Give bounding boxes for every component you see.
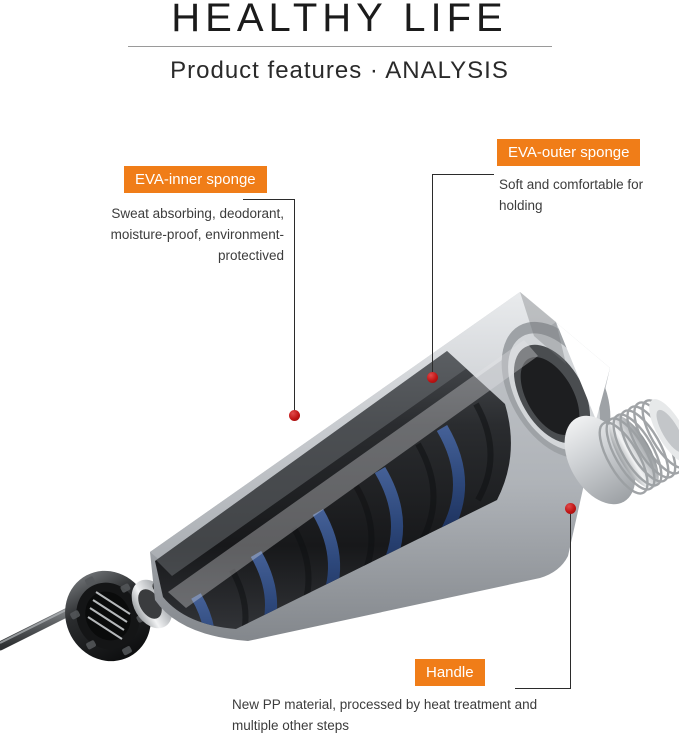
callout-badge-handle[interactable]: Handle — [415, 659, 485, 686]
marker-dot-eva-outer-sponge — [427, 372, 438, 383]
product-illustration — [0, 0, 679, 744]
callout-description-eva-inner-sponge: Sweat absorbing, deodorant, moisture-pro… — [60, 203, 284, 266]
marker-dot-handle — [565, 503, 576, 514]
callout-description-eva-outer-sponge: Soft and comfortable for holding — [499, 174, 679, 216]
callout-description-handle: New PP material, processed by heat treat… — [232, 694, 562, 736]
leader-line-eva-outer-vertical — [432, 174, 433, 378]
callout-badge-eva-inner-sponge[interactable]: EVA-inner sponge — [124, 166, 267, 193]
callout-badge-eva-outer-sponge[interactable]: EVA-outer sponge — [497, 139, 640, 166]
leader-line-eva-inner-horizontal — [243, 199, 294, 200]
leader-line-eva-outer-horizontal — [432, 174, 494, 175]
leader-line-eva-inner-vertical — [294, 199, 295, 415]
infographic-canvas: HEALTHY LIFE Product features · ANALYSIS — [0, 0, 679, 744]
leader-line-handle-vertical — [570, 508, 571, 688]
marker-dot-eva-inner-sponge — [289, 410, 300, 421]
leader-line-handle-horizontal — [515, 688, 571, 689]
